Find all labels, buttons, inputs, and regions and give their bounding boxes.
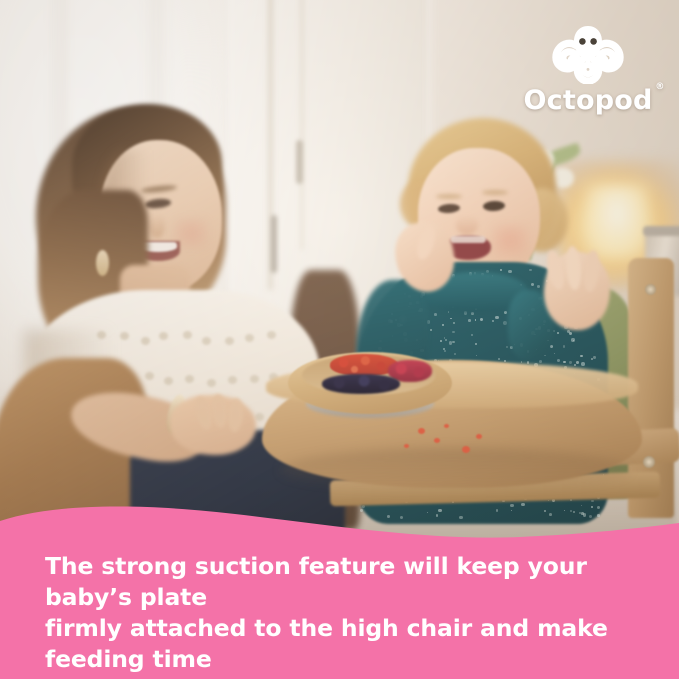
octopus-icon bbox=[552, 22, 624, 84]
eyelet-hole bbox=[145, 372, 154, 380]
food-crumb bbox=[434, 438, 440, 443]
dress-speck bbox=[468, 319, 471, 322]
baby-cheek bbox=[492, 224, 528, 256]
caption-line-2: firmly attached to the high chair and ma… bbox=[45, 613, 645, 675]
dress-speck bbox=[495, 316, 498, 319]
chair-screw bbox=[643, 456, 655, 468]
food-crumb bbox=[444, 424, 449, 428]
dress-speck bbox=[557, 332, 559, 334]
eyelet-hole bbox=[225, 337, 234, 345]
dress-speck bbox=[537, 285, 540, 288]
eyelet-hole bbox=[267, 331, 276, 339]
caption-text: The strong suction feature will keep you… bbox=[45, 551, 645, 679]
eyelet-hole bbox=[202, 337, 211, 345]
dress-speck bbox=[503, 321, 507, 325]
dress-speck bbox=[444, 350, 446, 352]
dress-speck bbox=[442, 324, 443, 325]
caption-line-3: easier & mess-free. bbox=[45, 675, 645, 679]
dress-speck bbox=[571, 338, 574, 341]
registered-trademark-symbol: ® bbox=[655, 83, 664, 92]
dress-speck bbox=[448, 311, 449, 312]
cabinet-seam bbox=[300, 0, 304, 250]
dress-speck bbox=[557, 359, 560, 362]
food-crumb bbox=[476, 434, 482, 439]
eyelet-hole bbox=[164, 377, 173, 385]
eyelet-hole bbox=[185, 375, 194, 383]
baby-nose bbox=[456, 215, 478, 235]
dress-speck bbox=[593, 356, 595, 358]
dress-speck bbox=[454, 353, 456, 355]
lamp-shade bbox=[586, 185, 648, 257]
cabinet-handle bbox=[296, 140, 303, 184]
eyelet-hole bbox=[97, 331, 106, 339]
dress-speck bbox=[440, 340, 442, 342]
mother-nose bbox=[149, 214, 165, 238]
product-banner-image: Octopod ® The strong suction feature wil… bbox=[0, 0, 679, 679]
dress-speck bbox=[452, 331, 454, 333]
dress-speck bbox=[529, 269, 532, 272]
dress-speck bbox=[574, 364, 576, 366]
cabinet-handle bbox=[271, 215, 277, 273]
dress-speck bbox=[471, 312, 474, 315]
caption-banner: The strong suction feature will keep you… bbox=[0, 495, 679, 679]
dress-speck bbox=[508, 270, 511, 273]
dress-speck bbox=[563, 361, 565, 363]
brand-logo: Octopod ® bbox=[512, 22, 664, 118]
chair-screw bbox=[645, 284, 656, 295]
dress-speck bbox=[504, 360, 506, 362]
earring bbox=[96, 250, 109, 276]
dress-speck bbox=[434, 313, 437, 316]
tray-shadow bbox=[280, 448, 630, 492]
dress-speck bbox=[450, 318, 451, 319]
dress-speck bbox=[581, 362, 585, 366]
dress-speck bbox=[430, 329, 432, 331]
logo-wordmark: Octopod ® bbox=[523, 87, 652, 114]
blueberries bbox=[322, 374, 400, 394]
dress-speck bbox=[504, 311, 506, 313]
mother-cheek bbox=[174, 218, 208, 248]
dress-speck bbox=[576, 361, 579, 364]
baby-teeth bbox=[450, 236, 486, 243]
logo-wordmark-text: Octopod bbox=[523, 85, 652, 116]
food-crumb bbox=[462, 446, 470, 453]
caption-line-1: The strong suction feature will keep you… bbox=[45, 551, 645, 613]
baby-eyebrow bbox=[436, 194, 462, 199]
baby-eyebrow bbox=[482, 190, 508, 195]
eyelet-hole bbox=[250, 375, 259, 383]
jar-lid bbox=[643, 226, 679, 236]
dress-speck bbox=[569, 361, 571, 363]
food-crumb bbox=[418, 428, 425, 434]
food-crumb bbox=[404, 444, 409, 448]
eyelet-hole bbox=[255, 413, 264, 421]
dress-speck bbox=[539, 360, 542, 363]
dress-speck bbox=[475, 319, 476, 320]
